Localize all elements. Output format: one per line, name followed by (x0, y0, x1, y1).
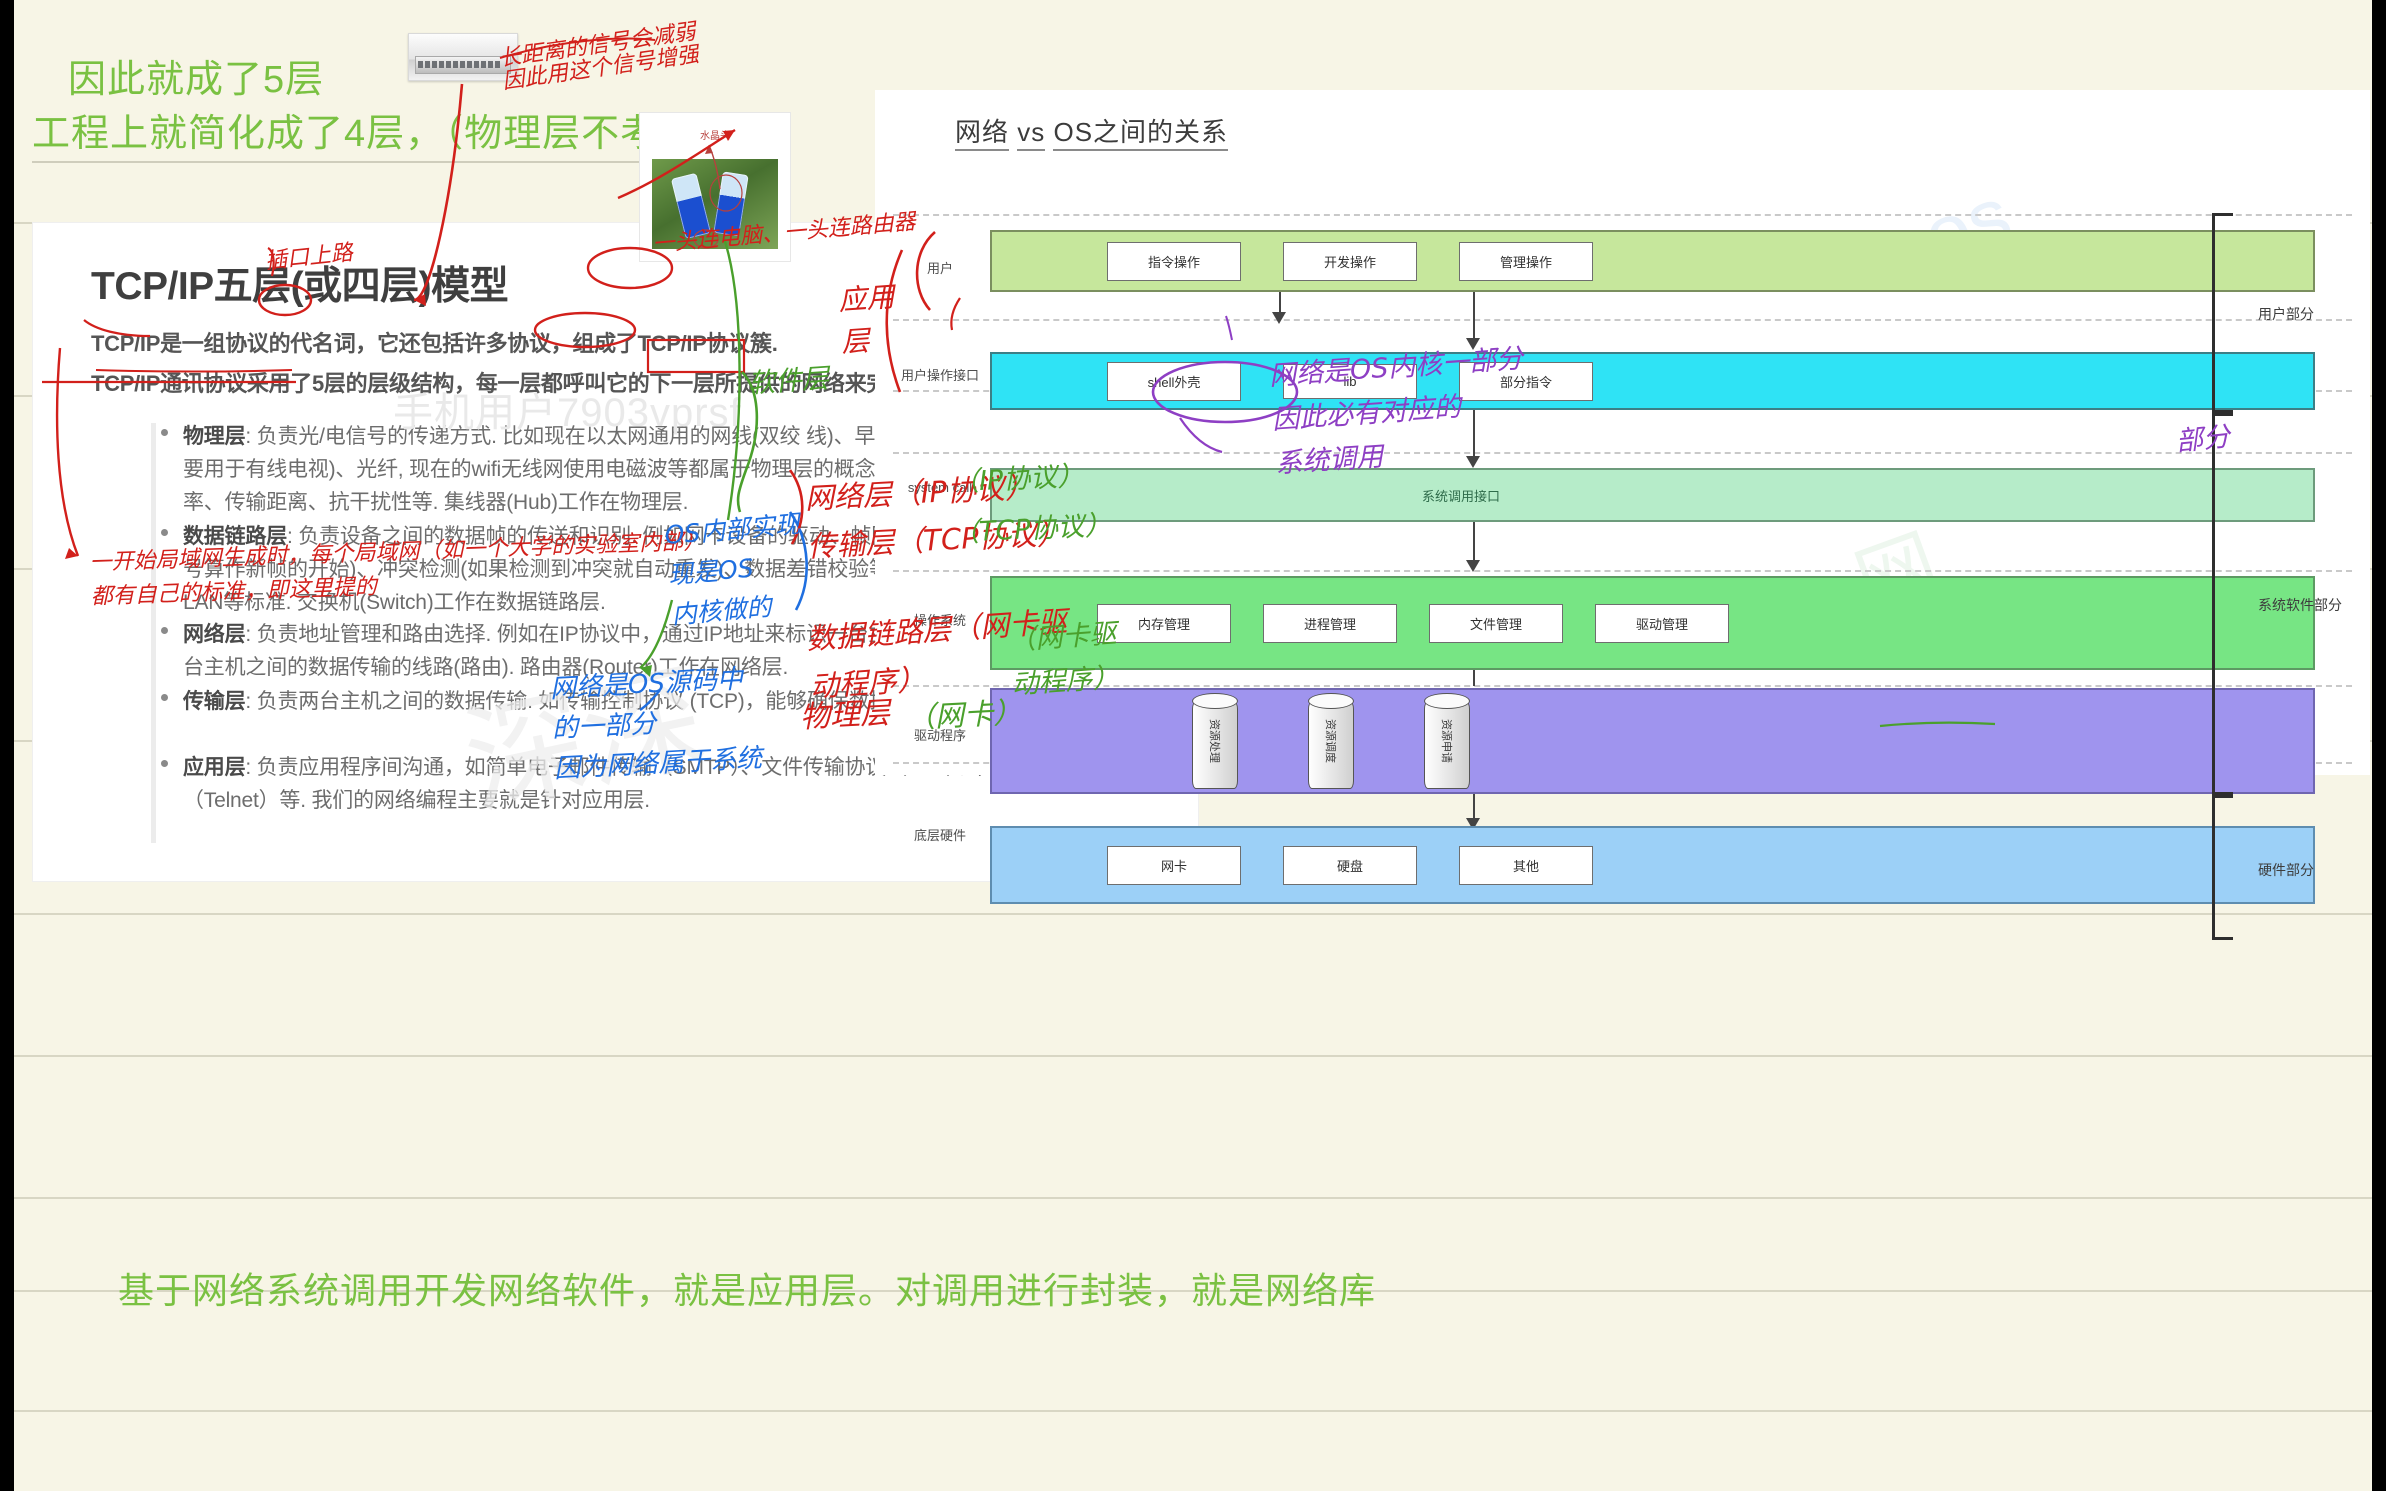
os-chip-syscall[interactable]: 系统调用接口 (1422, 486, 1500, 505)
handwriting-purple-kernel-syscall-note: 网络是OS内核一部分 因此必有对应的 系统调用 (1268, 337, 1531, 486)
section-divider (893, 319, 2352, 321)
bracket-system-software (2212, 413, 2233, 795)
os-chip[interactable]: 文件管理 (1429, 604, 1563, 643)
cylinder-label: 资源申请 (1439, 719, 1455, 763)
driver-cylinder: 资源处理 (1192, 693, 1238, 789)
handwriting-purple-part-note: 部分 (2175, 423, 2232, 457)
bullet-dot (161, 760, 168, 767)
bullet-dot (161, 529, 168, 536)
os-band-operating-system: 内存管理 进程管理 文件管理 驱动管理 (990, 576, 2315, 670)
os-title-os: OS之间的关系 (1053, 117, 1228, 151)
handwriting-green-nic-label: （网卡） (905, 697, 1022, 733)
os-title-vs: vs (1017, 117, 1045, 151)
bullet-label: 网络层 (183, 623, 245, 646)
bracket-hardware (2212, 795, 2233, 940)
bullet-dot (161, 429, 168, 436)
row-label: 用户 (890, 258, 990, 277)
os-title-network: 网络 (955, 117, 1009, 151)
os-band-user-interface: shell外壳 lib 部分指令 (990, 352, 2315, 410)
handwriting-red-application-layer-label: 应用 层 (837, 276, 899, 364)
bracket-label: 用户部分 (2258, 304, 2314, 324)
flow-line (1473, 794, 1475, 820)
os-chip[interactable]: 开发操作 (1283, 242, 1417, 281)
handwriting-green-nic-driver-label: （网卡驱 动程序） (1007, 612, 1121, 707)
flow-line (1279, 292, 1281, 314)
bullet-dot (161, 627, 168, 634)
handwriting-green-software-layer-label: 软件层 (747, 365, 830, 399)
os-chip[interactable]: 进程管理 (1263, 604, 1397, 643)
row-label: 用户操作接口 (890, 365, 990, 384)
switch-ports (418, 61, 500, 68)
os-chip[interactable]: 其他 (1459, 846, 1593, 885)
cylinder-label: 资源处理 (1207, 719, 1223, 763)
bracket-label: 硬件部分 (2258, 860, 2314, 880)
handwriting-red-signal-note: 长距离的信号会减弱 因此用这个信号增强 (498, 20, 701, 93)
section-divider (893, 452, 2352, 454)
os-chip[interactable]: 驱动管理 (1595, 604, 1729, 643)
os-chip[interactable]: 硬盘 (1283, 846, 1417, 885)
bracket-user (2212, 213, 2233, 413)
flow-line (1473, 522, 1475, 562)
os-diagram-title: 网络 vs OS之间的关系 (955, 112, 1228, 149)
os-chip[interactable]: 指令操作 (1107, 242, 1241, 281)
handwriting-green-ip-protocol-label: （IP协议） (951, 463, 1085, 498)
green-note-bottom: 基于网络系统调用开发网络软件，就是应用层。对调用进行封装，就是网络库 (118, 1262, 1376, 1314)
handwriting-blue-os-source-note: 网络是OS源码中 的一部分 因为网络属于系统 (549, 659, 763, 790)
os-band-drivers: 资源处理 资源调度 资源申请 (990, 688, 2315, 794)
os-chip[interactable]: 网卡 (1107, 846, 1241, 885)
driver-cylinder: 资源申请 (1424, 693, 1470, 789)
os-chip[interactable]: shell外壳 (1107, 362, 1241, 401)
handwriting-red-physical-layer-label: 物理层 (799, 698, 891, 734)
frame-bar-left (0, 0, 14, 1491)
green-note-line2: 工程上就简化成了4层，（物理层不考虑） (32, 102, 737, 163)
flow-line (1473, 292, 1475, 340)
rule-line (14, 1055, 2372, 1057)
driver-cylinder: 资源调度 (1308, 693, 1354, 789)
os-chip[interactable]: 管理操作 (1459, 242, 1593, 281)
bullet-label: 物理层 (183, 425, 245, 448)
bullet-rail (151, 423, 156, 843)
flow-line (1473, 670, 1475, 686)
handwriting-blue-os-internal-note: OS内部实现 现是OS 内核做的 (663, 504, 809, 635)
rule-line (14, 913, 2372, 915)
green-note-line1: 因此就成了5层 (68, 48, 324, 103)
frame-bar-right (2372, 0, 2386, 1491)
row-label: 底层硬件 (890, 825, 990, 844)
bullet-label: 应用层 (183, 756, 245, 779)
bullet-dot (161, 694, 168, 701)
bracket-label: 系统软件部分 (2258, 595, 2342, 615)
cylinder-label: 资源调度 (1323, 719, 1339, 763)
flow-arrow-icon (1466, 560, 1480, 572)
os-chip[interactable]: 内存管理 (1097, 604, 1231, 643)
os-band-hardware: 网卡 硬盘 其他 (990, 826, 2315, 904)
os-band-system-call: 系统调用接口 (990, 468, 2315, 522)
bullet-label: 传输层 (183, 690, 245, 713)
doc-paragraph-1: TCP/IP是一组协议的代名词，它还包括许多协议，组成了TCP/IP协议簇. (91, 326, 778, 358)
section-divider (893, 214, 2352, 216)
rule-line (14, 1197, 2372, 1199)
section-divider (893, 570, 2352, 572)
rule-line (14, 1410, 2372, 1412)
os-band-user: 指令操作 开发操作 管理操作 (990, 230, 2315, 292)
flow-arrow-icon (1272, 312, 1286, 324)
